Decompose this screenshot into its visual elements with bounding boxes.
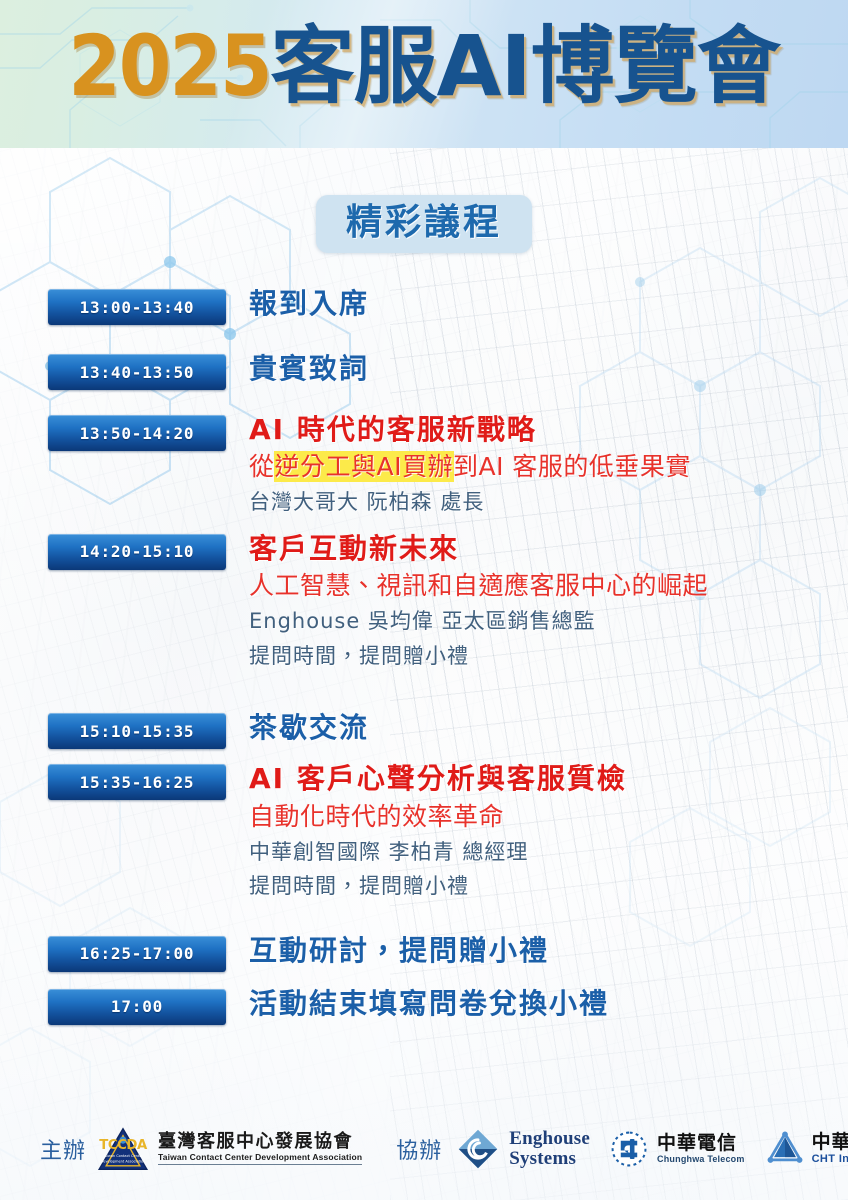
agenda-time-label: 17:00 bbox=[111, 997, 163, 1016]
agenda-list: 13:00-13:40報到入席13:40-13:50貴賓致詞13:50-14:2… bbox=[0, 286, 848, 1025]
agenda-title: 貴賓致詞 bbox=[249, 351, 848, 388]
tccda-name-cn: 臺灣客服中心發展協會 bbox=[158, 1133, 362, 1152]
agenda-title: 互動研討，提問贈小禮 bbox=[249, 933, 848, 970]
agenda-row: 16:25-17:00互動研討，提問贈小禮 bbox=[0, 933, 848, 972]
enghouse-name-line2: Systems bbox=[509, 1149, 590, 1169]
agenda-subtitle-pre: 自動化時代的效率革命 bbox=[249, 802, 504, 831]
agenda-speaker: 中華創智國際 李柏青 總經理 bbox=[249, 837, 848, 869]
header-banner: 2025客服AI博覽會 bbox=[0, 0, 848, 148]
agenda-title: AI 客戶心聲分析與客服質檢 bbox=[249, 761, 848, 797]
cht-inventai-logo-icon bbox=[765, 1129, 805, 1169]
agenda-subtitle-post: 到AI 客服的低垂果實 bbox=[453, 452, 691, 481]
logo-enghouse: Enghouse Systems bbox=[442, 1127, 590, 1171]
agenda-row: 17:00活動結束填寫問卷兌換小禮 bbox=[0, 986, 848, 1025]
tccda-logo-icon: TCCDA Taiwan Contact Center Development … bbox=[96, 1126, 150, 1172]
agenda-row-body: 茶歇交流 bbox=[226, 710, 848, 747]
agenda-row: 15:10-15:35茶歇交流 bbox=[0, 710, 848, 749]
agenda-subtitle-pre: 從 bbox=[249, 452, 275, 481]
svg-text:TCCDA: TCCDA bbox=[99, 1138, 148, 1153]
svg-text:Development Association: Development Association bbox=[101, 1159, 146, 1163]
agenda-time-badge: 15:10-15:35 bbox=[48, 713, 226, 749]
title-year: 2025 bbox=[68, 17, 270, 115]
agenda-row-body: 報到入席 bbox=[226, 286, 848, 323]
agenda-time-badge: 15:35-16:25 bbox=[48, 764, 226, 800]
svg-text:Taiwan Contact Center: Taiwan Contact Center bbox=[102, 1154, 143, 1158]
enghouse-name-line1: Enghouse bbox=[509, 1129, 590, 1149]
agenda-note: 提問時間，提問贈小禮 bbox=[249, 871, 848, 903]
cht-inventai-name-cn: 中華創智國際 bbox=[812, 1132, 848, 1153]
agenda-time-badge: 13:50-14:20 bbox=[48, 415, 226, 451]
chunghwa-name-cn: 中華電信 bbox=[657, 1133, 745, 1154]
agenda-row-body: 互動研討，提問贈小禮 bbox=[226, 933, 848, 970]
agenda-speaker: 台灣大哥大 阮柏森 處長 bbox=[249, 487, 848, 519]
enghouse-logo-icon bbox=[456, 1127, 500, 1171]
footer-sponsors: 主辦 TCCDA Taiwan Contact Center Developme… bbox=[0, 1102, 848, 1200]
enghouse-name-block: Enghouse Systems bbox=[509, 1129, 590, 1170]
agenda-row: 13:50-14:20AI 時代的客服新戰略從逆分工與AI買辦到AI 客服的低垂… bbox=[0, 412, 848, 519]
logo-chunghwa-telecom: 中華電信 Chunghwa Telecom bbox=[590, 1128, 745, 1170]
tccda-name-block: 臺灣客服中心發展協會 Taiwan Contact Center Develop… bbox=[158, 1133, 362, 1166]
agenda-note: 提問時間，提問贈小禮 bbox=[249, 641, 848, 673]
agenda-row: 13:00-13:40報到入席 bbox=[0, 286, 848, 325]
cht-inventai-name-block: 中華創智國際 CHT InventAI bbox=[812, 1132, 848, 1166]
agenda-time-badge: 17:00 bbox=[48, 989, 226, 1025]
agenda-time-label: 13:50-14:20 bbox=[80, 424, 195, 443]
logo-tccda: TCCDA Taiwan Contact Center Development … bbox=[86, 1126, 362, 1172]
chunghwa-name-en: Chunghwa Telecom bbox=[657, 1155, 745, 1165]
agenda-row-body: AI 時代的客服新戰略從逆分工與AI買辦到AI 客服的低垂果實台灣大哥大 阮柏森… bbox=[226, 412, 848, 519]
agenda-time-label: 13:00-13:40 bbox=[80, 298, 195, 317]
agenda-time-label: 15:35-16:25 bbox=[80, 773, 195, 792]
agenda-time-label: 16:25-17:00 bbox=[80, 944, 195, 963]
agenda-time-badge: 14:20-15:10 bbox=[48, 534, 226, 570]
agenda-time-badge: 13:00-13:40 bbox=[48, 289, 226, 325]
agenda-row: 15:35-16:25AI 客戶心聲分析與客服質檢自動化時代的效率革命中華創智國… bbox=[0, 761, 848, 902]
chunghwa-telecom-logo-icon bbox=[608, 1128, 650, 1170]
agenda-row-body: 活動結束填寫問卷兌換小禮 bbox=[226, 986, 848, 1023]
organizer-label: 主辦 bbox=[40, 1133, 86, 1165]
coorganizer-label: 協辦 bbox=[396, 1133, 442, 1165]
agenda-time-badge: 16:25-17:00 bbox=[48, 936, 226, 972]
agenda-row-body: AI 客戶心聲分析與客服質檢自動化時代的效率革命中華創智國際 李柏青 總經理提問… bbox=[226, 761, 848, 902]
title-main: 客服AI博覽會 bbox=[271, 17, 780, 115]
chunghwa-name-block: 中華電信 Chunghwa Telecom bbox=[657, 1133, 745, 1165]
cht-inventai-name-en: CHT InventAI bbox=[812, 1154, 848, 1166]
agenda-speaker: Enghouse 吳均偉 亞太區銷售總監 bbox=[249, 606, 848, 638]
agenda-section-label: 精彩議程 bbox=[346, 202, 502, 243]
logo-cht-inventai: 中華創智國際 CHT InventAI bbox=[745, 1129, 848, 1169]
agenda-subtitle: 從逆分工與AI買辦到AI 客服的低垂果實 bbox=[249, 450, 848, 484]
tccda-name-en: Taiwan Contact Center Development Associ… bbox=[158, 1153, 362, 1165]
agenda-subtitle: 自動化時代的效率革命 bbox=[249, 800, 848, 834]
agenda-time-badge: 13:40-13:50 bbox=[48, 354, 226, 390]
agenda-title: 報到入席 bbox=[249, 286, 848, 323]
agenda-row: 13:40-13:50貴賓致詞 bbox=[0, 351, 848, 390]
agenda-subtitle: 人工智慧、視訊和自適應客服中心的崛起 bbox=[249, 569, 848, 603]
agenda-section-pill: 精彩議程 bbox=[316, 195, 532, 253]
agenda-time-label: 14:20-15:10 bbox=[80, 542, 195, 561]
agenda-title: AI 時代的客服新戰略 bbox=[249, 412, 848, 448]
agenda-row-body: 貴賓致詞 bbox=[226, 351, 848, 388]
page-title: 2025客服AI博覽會 bbox=[0, 24, 848, 108]
agenda-title: 活動結束填寫問卷兌換小禮 bbox=[249, 986, 848, 1023]
agenda-poster: 2025客服AI博覽會 精彩議程 13:00-13:40報到入席13:40-13… bbox=[0, 0, 848, 1200]
agenda-subtitle-highlight: 逆分工與AI買辦 bbox=[275, 452, 453, 481]
agenda-time-label: 13:40-13:50 bbox=[80, 363, 195, 382]
agenda-subtitle-pre: 人工智慧、視訊和自適應客服中心的崛起 bbox=[249, 571, 708, 600]
agenda-title: 客戶互動新未來 bbox=[249, 531, 848, 567]
agenda-time-label: 15:10-15:35 bbox=[80, 722, 195, 741]
agenda-row-body: 客戶互動新未來人工智慧、視訊和自適應客服中心的崛起Enghouse 吳均偉 亞太… bbox=[226, 531, 848, 672]
agenda-title: 茶歇交流 bbox=[249, 710, 848, 747]
agenda-row: 14:20-15:10客戶互動新未來人工智慧、視訊和自適應客服中心的崛起Engh… bbox=[0, 531, 848, 672]
